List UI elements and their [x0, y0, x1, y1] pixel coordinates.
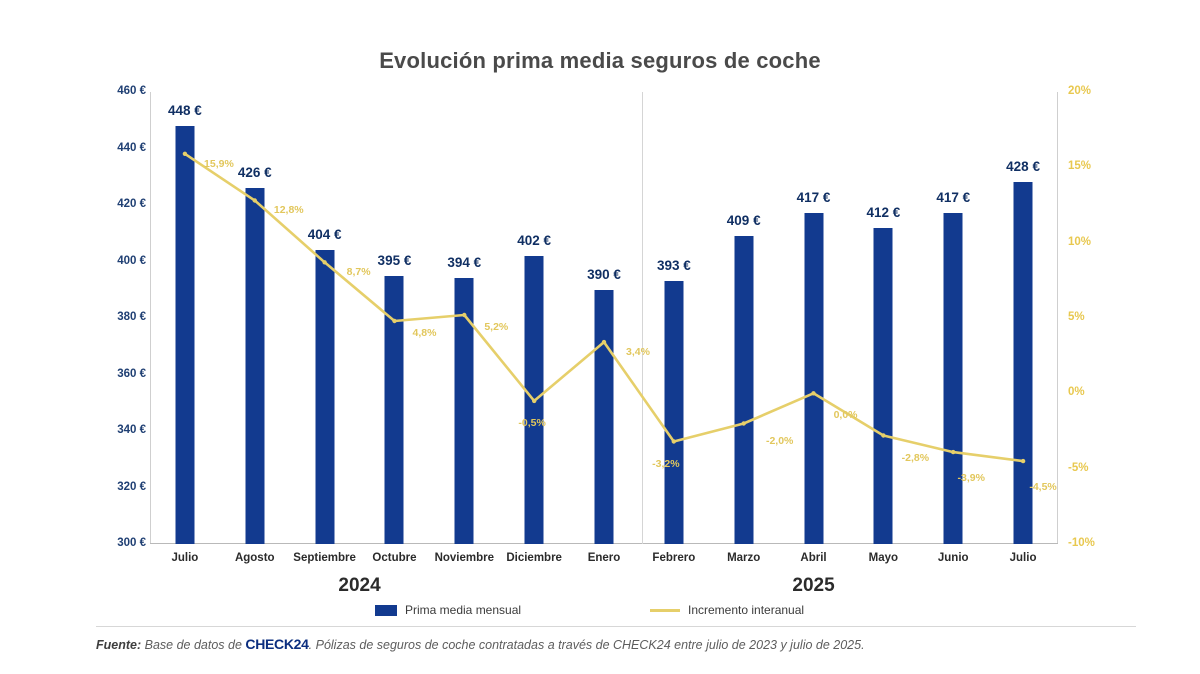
- x-axis-tick-label: Julio: [980, 552, 1066, 564]
- line-value-label: -2,0%: [766, 435, 793, 447]
- line-value-label: 15,9%: [204, 158, 234, 170]
- right-axis-tick: 15%: [1068, 160, 1116, 172]
- left-axis-tick: 300 €: [88, 537, 146, 549]
- line-value-label: -4,5%: [1029, 481, 1056, 493]
- bar-swatch-icon: [375, 605, 397, 616]
- right-axis-tick: 5%: [1068, 311, 1116, 323]
- left-axis-tick: 400 €: [88, 255, 146, 267]
- line-point[interactable]: [672, 439, 676, 443]
- line-value-label: -2,8%: [902, 452, 929, 464]
- chart-page: Evolución prima media seguros de coche 4…: [0, 0, 1200, 674]
- left-axis-tick: 440 €: [88, 142, 146, 154]
- legend-item-line[interactable]: Incremento interanual: [650, 603, 804, 617]
- line-series: 15,9%12,8%8,7%4,8%5,2%-0,5%3,4%-3,2%-2,0…: [150, 92, 1058, 544]
- footer-divider: [96, 626, 1136, 627]
- left-axis-tick: 340 €: [88, 424, 146, 436]
- line-value-label: -3,2%: [652, 458, 679, 470]
- line-point[interactable]: [602, 340, 606, 344]
- line-value-label: 4,8%: [412, 327, 436, 339]
- source-prefix: Fuente:: [96, 638, 141, 652]
- line-point[interactable]: [322, 260, 326, 264]
- line-value-label: 12,8%: [274, 204, 304, 216]
- left-axis-tick: 380 €: [88, 311, 146, 323]
- line-point[interactable]: [1021, 459, 1025, 463]
- legend-label-bar: Prima media mensual: [405, 603, 521, 617]
- line-point[interactable]: [881, 433, 885, 437]
- line-point[interactable]: [462, 313, 466, 317]
- left-axis-tick: 460 €: [88, 85, 146, 97]
- line-point[interactable]: [392, 319, 396, 323]
- line-point[interactable]: [951, 450, 955, 454]
- x-axis-labels: JulioAgostoSeptiembreOctubreNoviembreDic…: [150, 552, 1058, 576]
- line-value-label: -3,9%: [958, 472, 985, 484]
- check24-logo: CHECK24: [245, 636, 308, 652]
- right-axis-tick: 10%: [1068, 236, 1116, 248]
- source-text-before: Base de datos de: [141, 638, 245, 652]
- line-value-label: 3,4%: [626, 346, 650, 358]
- increment-line: [185, 154, 1023, 461]
- line-point[interactable]: [253, 198, 257, 202]
- right-axis-tick: -10%: [1068, 537, 1116, 549]
- line-point[interactable]: [811, 391, 815, 395]
- year-label: 2024: [338, 575, 380, 597]
- year-label: 2025: [792, 575, 834, 597]
- line-point[interactable]: [532, 399, 536, 403]
- line-point[interactable]: [742, 421, 746, 425]
- line-point[interactable]: [183, 152, 187, 156]
- chart-legend: Prima media mensual Incremento interanua…: [0, 603, 1200, 625]
- line-value-label: 0,0%: [834, 409, 858, 421]
- increment-line-svg: [150, 92, 1058, 544]
- line-value-label: 5,2%: [484, 321, 508, 333]
- line-value-label: -0,5%: [518, 417, 545, 429]
- line-value-label: 8,7%: [347, 266, 371, 278]
- left-axis-tick: 360 €: [88, 368, 146, 380]
- source-text-after: . Pólizas de seguros de coche contratada…: [309, 638, 865, 652]
- right-axis-tick: 0%: [1068, 386, 1116, 398]
- page-title: Evolución prima media seguros de coche: [0, 48, 1200, 74]
- legend-item-bar[interactable]: Prima media mensual: [375, 603, 521, 617]
- left-axis-tick: 320 €: [88, 481, 146, 493]
- source-note: Fuente: Base de datos de CHECK24. Póliza…: [96, 636, 1136, 652]
- right-axis-tick: 20%: [1068, 85, 1116, 97]
- right-axis-tick: -5%: [1068, 462, 1116, 474]
- line-swatch-icon: [650, 609, 680, 612]
- left-axis-tick: 420 €: [88, 198, 146, 210]
- legend-label-line: Incremento interanual: [688, 603, 804, 617]
